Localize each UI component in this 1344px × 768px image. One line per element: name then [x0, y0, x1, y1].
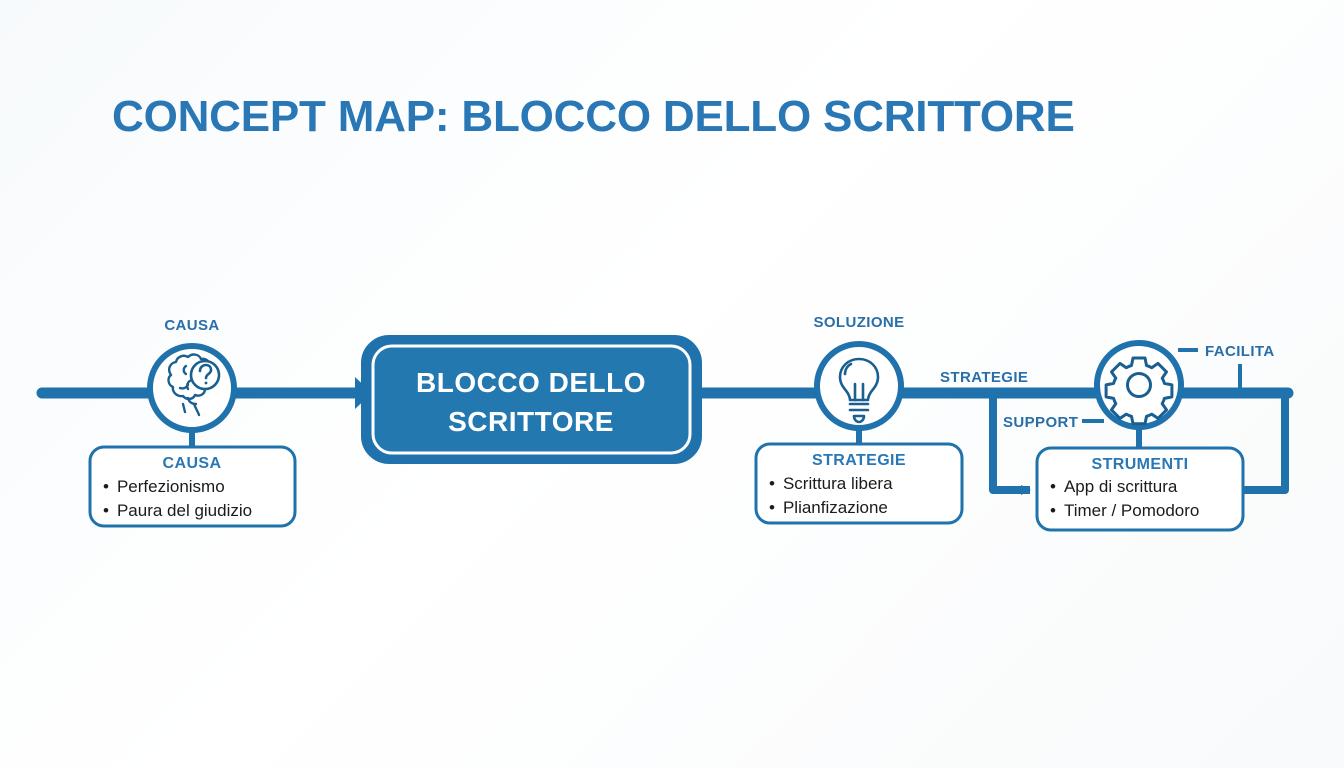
hub-label-line2: SCRITTORE [448, 406, 614, 437]
connector-label-strategie-group: STRATEGIE [940, 369, 1028, 386]
connector-label-facilita: FACILITA [1205, 343, 1275, 360]
card-causa-item-1: •Paura del giudizio [103, 501, 252, 520]
connector-facilita-to-strumenti [1243, 393, 1285, 490]
connector-label-facilita-group: FACILITA [1178, 343, 1275, 390]
card-strumenti[interactable]: STRUMENTI •App di scrittura •Timer / Pom… [1037, 448, 1243, 530]
node-causa[interactable]: CAUSA [150, 317, 234, 450]
node-strumenti[interactable] [1097, 343, 1181, 448]
card-strategie-title: STRATEGIE [812, 452, 906, 469]
concept-map-graphic: STRATEGIE SUPPORT FACILITA CAUSA [0, 0, 1344, 768]
card-strumenti-item-0: •App di scrittura [1050, 477, 1178, 496]
concept-map-canvas: CONCEPT MAP: BLOCCO DELLO SCRITTORE STRA… [0, 0, 1344, 768]
card-causa-item-0: •Perfezionismo [103, 477, 225, 496]
card-strategie-item-0: •Scrittura libera [769, 474, 893, 493]
card-causa-title: CAUSA [163, 455, 222, 472]
hub-label-line1: BLOCCO DELLO [416, 367, 646, 398]
connector-label-support-group: SUPPORT [1003, 414, 1104, 431]
connector-label-support: SUPPORT [1003, 414, 1078, 431]
node-causa-circle[interactable] [150, 346, 234, 430]
connector-label-strategie: STRATEGIE [940, 369, 1028, 386]
hub-blocco-dello-scrittore[interactable]: BLOCCO DELLO SCRITTORE [363, 337, 700, 462]
card-causa[interactable]: CAUSA •Perfezionismo •Paura del giudizio [90, 447, 295, 526]
card-strategie-item-1: •Plianfizazione [769, 498, 888, 517]
card-strumenti-title: STRUMENTI [1092, 456, 1189, 473]
connector-support-to-strumenti [993, 393, 1030, 490]
card-strumenti-item-1: •Timer / Pomodoro [1050, 501, 1199, 520]
node-causa-caption: CAUSA [164, 317, 219, 334]
card-strategie[interactable]: STRATEGIE •Scrittura libera •Plianfizazi… [756, 444, 962, 523]
node-soluzione[interactable]: SOLUZIONE [813, 314, 904, 447]
node-soluzione-caption: SOLUZIONE [813, 314, 904, 331]
